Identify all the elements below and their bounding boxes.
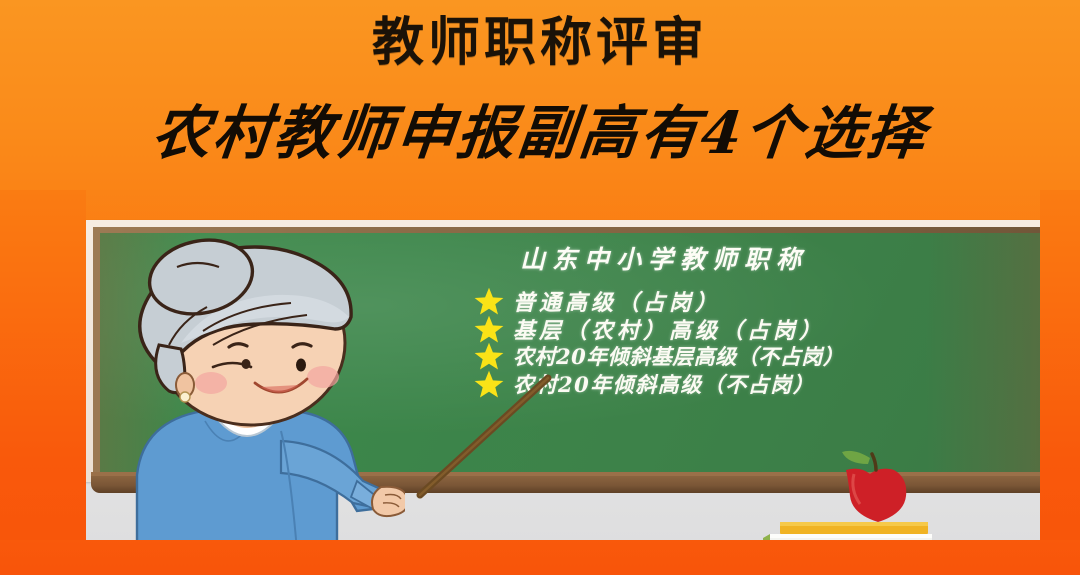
teacher-head <box>140 231 351 425</box>
blackboard-heading: 山东中小学教师职称 <box>520 240 808 276</box>
blackboard-shade-right <box>926 233 1040 474</box>
poster-canvas: 教师职称评审 农村教师申报副高有4个选择 山东中小学教师职称 普通高级（占岗） … <box>0 0 1080 575</box>
blackboard-list-item-label: 农村20年倾斜高级（不占岗） <box>513 369 815 399</box>
teacher-figure <box>85 225 405 575</box>
star-icon <box>474 286 504 316</box>
left-orange-band <box>0 190 86 575</box>
bottom-orange-band <box>0 540 1080 575</box>
apple-icon <box>842 451 906 522</box>
page-subtitle: 农村教师申报副高有4个选择 <box>0 103 1080 164</box>
blackboard-list-item: 农村20年倾斜基层高级（不占岗） <box>474 341 844 371</box>
star-icon <box>474 369 504 399</box>
star-icon <box>474 341 504 371</box>
teacher-hand <box>372 487 405 516</box>
right-orange-band <box>1040 190 1080 575</box>
blackboard-list-item: 农村20年倾斜高级（不占岗） <box>474 369 815 399</box>
star-icon <box>474 314 504 344</box>
page-title: 教师职称评审 <box>0 16 1080 71</box>
blackboard-list-item-label: 农村20年倾斜基层高级（不占岗） <box>513 341 844 371</box>
